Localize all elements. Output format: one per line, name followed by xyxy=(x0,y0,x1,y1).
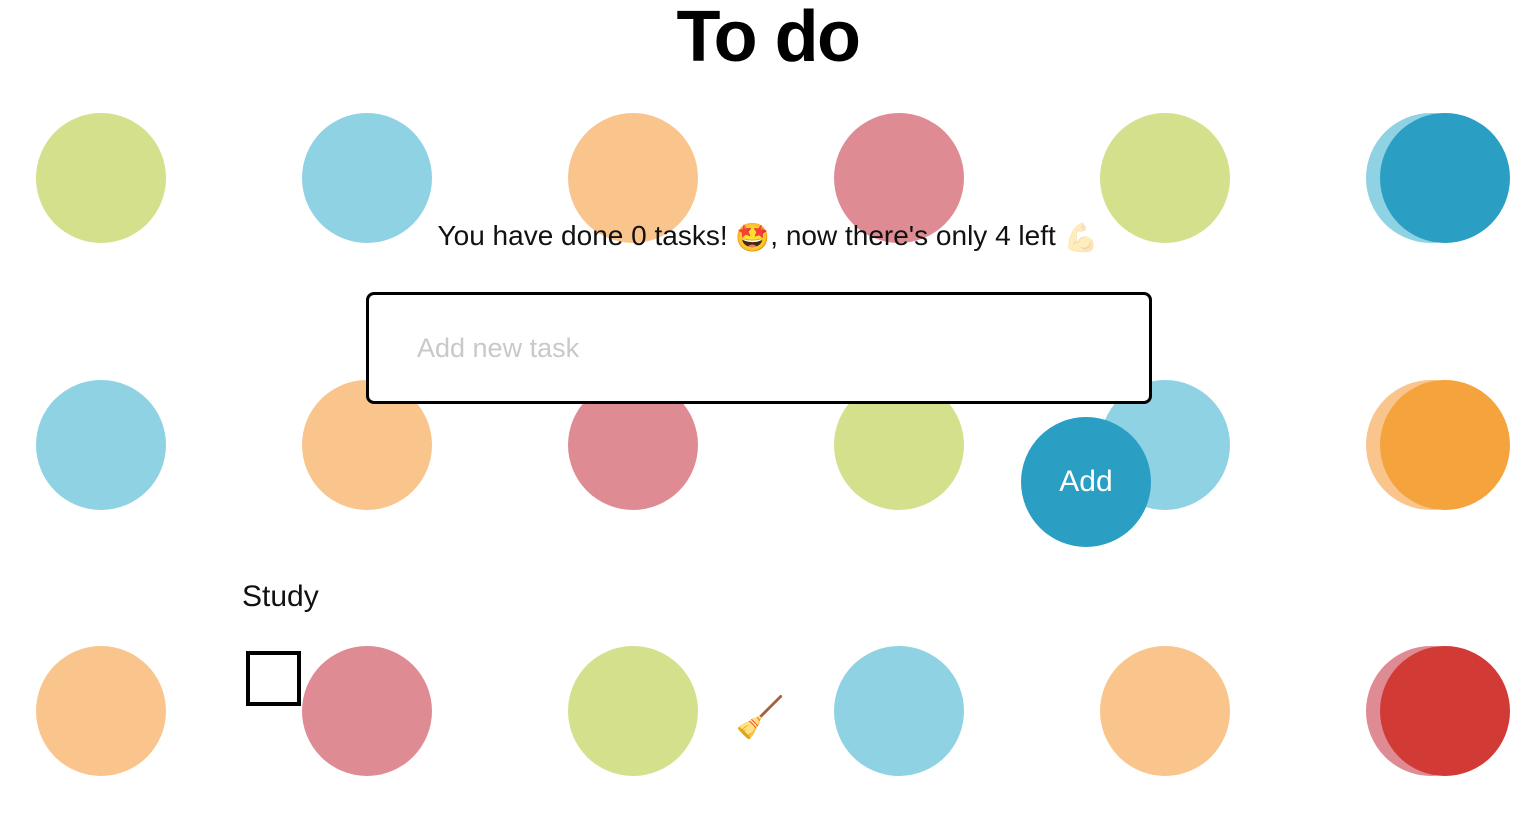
task-checkbox[interactable] xyxy=(246,651,301,706)
add-task-button[interactable]: Add xyxy=(1021,417,1151,547)
status-text: You have done 0 tasks! 🤩, now there's on… xyxy=(0,216,1536,258)
new-task-input[interactable] xyxy=(366,292,1152,404)
flexed-biceps-emoji: 💪 xyxy=(1064,222,1099,253)
task-list: Study🧹 xyxy=(242,575,1342,775)
status-suffix: , now there's only xyxy=(770,220,995,251)
status-prefix: You have done xyxy=(438,220,632,251)
task-label: Study xyxy=(242,575,319,619)
done-count: 0 xyxy=(631,220,647,251)
todo-app: To do You have done 0 tasks! 🤩, now ther… xyxy=(0,0,1536,816)
status-middle: tasks! xyxy=(647,220,736,251)
broom-icon[interactable]: 🧹 xyxy=(732,690,788,746)
app-content: To do You have done 0 tasks! 🤩, now ther… xyxy=(0,0,1536,816)
remaining-count: 4 xyxy=(995,220,1011,251)
status-tail: left xyxy=(1011,220,1064,251)
task-row: Study🧹 xyxy=(242,575,1342,775)
page-title: To do xyxy=(0,0,1536,79)
star-struck-emoji: 🤩 xyxy=(735,222,770,253)
